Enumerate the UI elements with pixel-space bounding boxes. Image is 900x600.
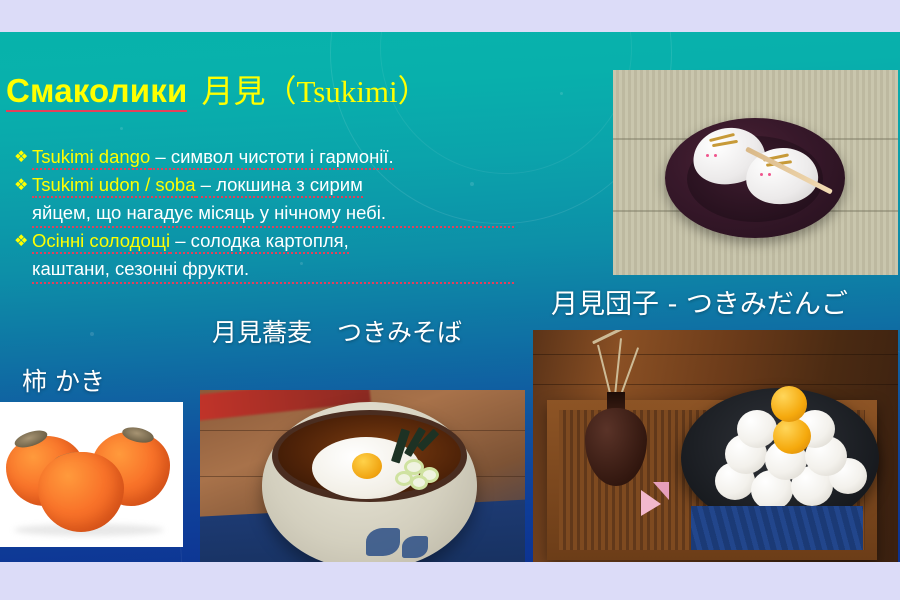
list-item-text: Осінні солодощі – солодка картопля, bbox=[32, 228, 349, 253]
title-romaji: （Tsukimi） bbox=[265, 74, 428, 109]
egg-yolk bbox=[352, 453, 382, 479]
photo-dango-pyramid bbox=[533, 330, 898, 562]
scallion-ring bbox=[395, 471, 413, 486]
caption-kaki: 柿 かき bbox=[22, 362, 105, 398]
orange-dango-ball bbox=[773, 418, 811, 454]
title-japanese: 月見 bbox=[201, 72, 265, 110]
list-item-keyword: Tsukimi udon / soba bbox=[32, 174, 196, 198]
decorative-speck bbox=[90, 332, 94, 336]
presentation-page: Смаколики月見（Tsukimi） ❖ Tsukimi dango – с… bbox=[0, 0, 900, 600]
list-item-keyword: Tsukimi dango bbox=[32, 146, 150, 170]
list-item-rest: – локшина з сирим bbox=[196, 174, 363, 198]
bowl-pattern bbox=[366, 528, 400, 556]
photo-tsukimi-soba bbox=[200, 390, 525, 562]
rabbit-eye bbox=[768, 173, 771, 176]
list-item-text: Tsukimi dango – символ чистоти і гармоні… bbox=[32, 144, 394, 169]
diamond-bullet-icon: ❖ bbox=[14, 172, 32, 197]
dango-ball bbox=[737, 410, 777, 448]
list-item-rest: – солодка картопля, bbox=[170, 230, 349, 254]
bullet-list: ❖ Tsukimi dango – символ чистоти і гармо… bbox=[14, 144, 514, 284]
list-item-rest: – символ чистоти і гармонії. bbox=[150, 146, 393, 170]
broth bbox=[278, 415, 461, 495]
list-item-continuation: каштани, сезонні фрукти. bbox=[32, 256, 514, 284]
diamond-bullet-icon: ❖ bbox=[14, 228, 32, 253]
orange-dango-ball bbox=[771, 386, 807, 422]
slide-title: Смаколики月見（Tsukimi） bbox=[6, 66, 429, 112]
indigo-cloth bbox=[691, 506, 863, 550]
list-item-continuation: яйцем, що нагадує місяць у нічному небі. bbox=[32, 200, 514, 228]
rabbit-eye bbox=[706, 154, 709, 157]
list-item-text: Tsukimi udon / soba – локшина з сирим bbox=[32, 172, 363, 197]
caption-soba: 月見蕎麦 つきみそば bbox=[212, 313, 462, 349]
title-ukrainian: Смаколики bbox=[6, 72, 187, 112]
photo-rabbit-dango bbox=[613, 70, 898, 275]
rabbit-eye bbox=[760, 173, 763, 176]
list-item: ❖ Осінні солодощі – солодка картопля, bbox=[14, 228, 514, 253]
photo-persimmons bbox=[0, 402, 183, 547]
wood-grain-line bbox=[533, 384, 898, 385]
decorative-speck bbox=[120, 127, 123, 130]
soba-bowl bbox=[262, 402, 477, 562]
origami-fold bbox=[653, 482, 669, 500]
list-item: ❖ Tsukimi dango – символ чистоти і гармо… bbox=[14, 144, 514, 169]
list-item-keyword: Осінні солодощі bbox=[32, 230, 170, 254]
rabbit-eye bbox=[714, 154, 717, 157]
bowl-pattern bbox=[402, 536, 428, 558]
caption-dango: 月見団子 - つきみだんご bbox=[551, 282, 848, 321]
wood-grain-line bbox=[533, 354, 898, 355]
list-item: ❖ Tsukimi udon / soba – локшина з сирим bbox=[14, 172, 514, 197]
persimmon-fruit bbox=[38, 452, 124, 532]
decorative-speck bbox=[560, 92, 563, 95]
diamond-bullet-icon: ❖ bbox=[14, 144, 32, 169]
slide-canvas: Смаколики月見（Tsukimi） ❖ Tsukimi dango – с… bbox=[0, 32, 900, 562]
origami-rabbit bbox=[641, 482, 677, 516]
